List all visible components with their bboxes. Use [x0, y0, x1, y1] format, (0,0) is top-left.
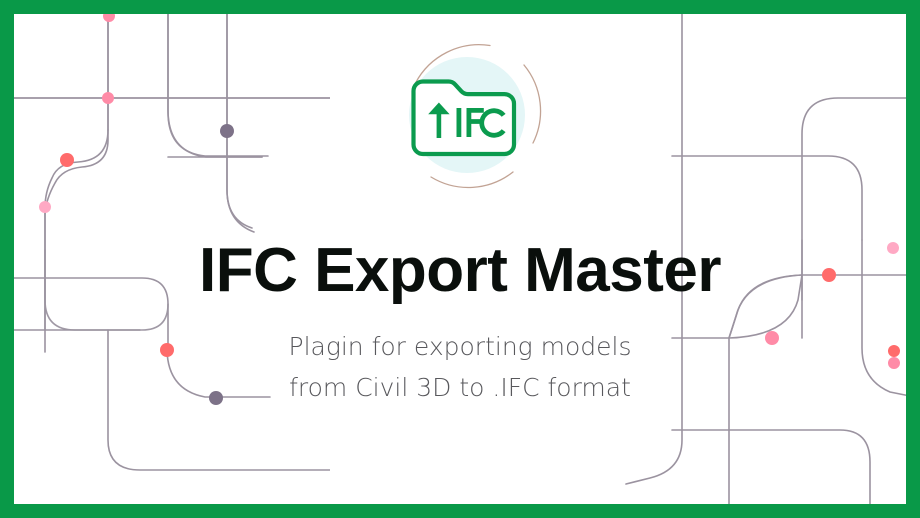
circuit-dot [102, 92, 114, 104]
circuit-dot [103, 10, 115, 22]
folder-upload-ifc-icon [414, 82, 515, 155]
slide-text-block: IFC Export Master Plagin for exporting m… [0, 238, 920, 408]
page-title: IFC Export Master [0, 238, 920, 303]
ifc-folder-logo [385, 25, 550, 205]
circuit-dot [39, 201, 51, 213]
subtitle-line-1: Plagin for exporting models [0, 327, 920, 368]
subtitle-line-2: from Civil 3D to .IFC format [0, 368, 920, 409]
circuit-dot [60, 153, 74, 167]
circuit-dot [220, 124, 234, 138]
presentation-slide: IFC Export Master Plagin for exporting m… [0, 0, 920, 518]
subtitle: Plagin for exporting models from Civil 3… [0, 303, 920, 408]
